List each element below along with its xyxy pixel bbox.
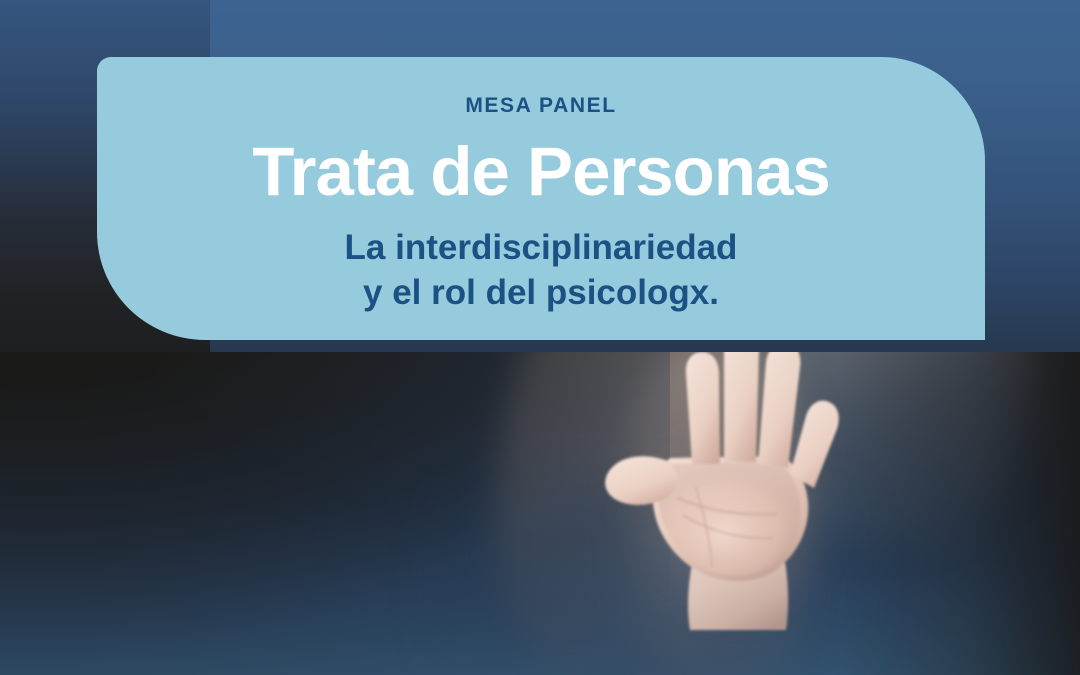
poster: MESA PANEL Trata de Personas La interdis… — [0, 0, 1080, 675]
subtitle: La interdisciplinariedad y el rol del ps… — [345, 226, 738, 316]
open-palm-stop-hand-icon — [600, 330, 870, 630]
subtitle-line-1: La interdisciplinariedad — [345, 226, 738, 271]
subtitle-line-2: y el rol del psicologx. — [345, 271, 738, 316]
eyebrow-label: MESA PANEL — [465, 95, 616, 116]
page-title: Trata de Personas — [252, 136, 829, 208]
header-panel: MESA PANEL Trata de Personas La interdis… — [97, 57, 985, 340]
